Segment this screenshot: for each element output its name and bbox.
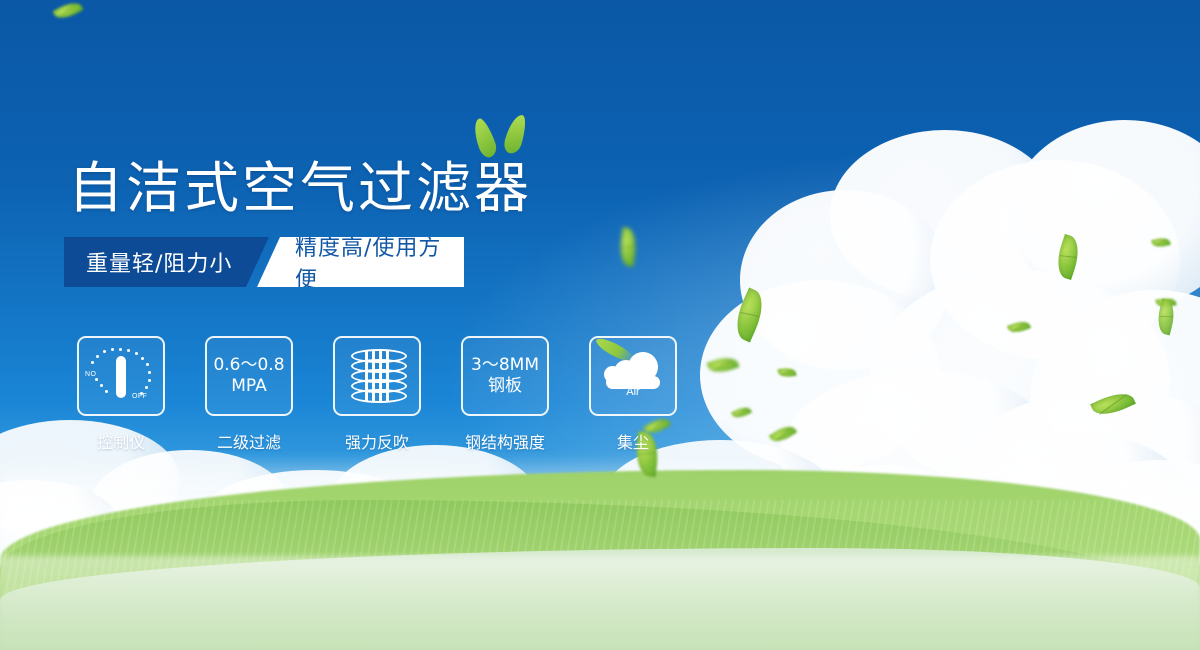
steel-plate-text-icon: 3〜8MM 钢板 [471,355,539,396]
feature-item-two-stage-filter[interactable]: 0.6〜0.8 MPA 二级过滤 [206,336,292,453]
air-label: Air [600,386,666,398]
product-hero-banner: 自洁式空气过滤器 重量轻/阻力小 精度高/使用方便 [0,0,1200,650]
pressure-text-icon: 0.6〜0.8 MPA [213,355,284,396]
feature-icon-box [333,336,421,416]
feature-label: 集尘 [617,429,649,453]
subtitle-right-text: 精度高/使用方便 [295,230,464,294]
steel-material: 钢板 [471,376,539,397]
air-cloud-icon: Air [600,350,666,402]
gauge-off-label: OFF [132,393,147,400]
subtitle-strip: 重量轻/阻力小 精度高/使用方便 [64,237,464,287]
feature-item-dust-collection[interactable]: Air 集尘 [590,336,676,453]
leaf-icon [617,227,638,267]
pressure-unit: MPA [213,376,284,397]
page-title: 自洁式空气过滤器 [68,143,532,223]
leaf-icon [53,0,84,23]
gauge-needle-icon [116,356,126,398]
grass-sheen [0,556,1200,650]
feature-label: 强力反吹 [345,429,409,453]
feature-label: 钢结构强度 [465,429,545,453]
feature-icon-box: Air [589,336,677,416]
feature-item-controller[interactable]: NO OFF 控制仪 [78,336,164,453]
feature-list: NO OFF 控制仪 0.6〜0.8 MPA 二级过滤 [78,336,676,453]
feature-label: 二级过滤 [217,429,281,453]
coil-filter-icon [349,347,405,405]
subtitle-left-text: 重量轻/阻力小 [86,246,232,278]
feature-item-strong-blowback[interactable]: 强力反吹 [334,336,420,453]
steel-thickness: 3〜8MM [471,355,539,375]
feature-item-steel-strength[interactable]: 3〜8MM 钢板 钢结构强度 [462,336,548,453]
gauge-icon: NO OFF [85,344,157,408]
pressure-value: 0.6〜0.8 [213,355,284,375]
gauge-no-label: NO [85,371,96,378]
feature-label: 控制仪 [97,429,145,453]
feature-icon-box: NO OFF [77,336,165,416]
subtitle-right-panel: 精度高/使用方便 [257,237,464,287]
feature-icon-box: 3〜8MM 钢板 [461,336,549,416]
feature-icon-box: 0.6〜0.8 MPA [205,336,293,416]
subtitle-left-panel: 重量轻/阻力小 [64,237,269,287]
